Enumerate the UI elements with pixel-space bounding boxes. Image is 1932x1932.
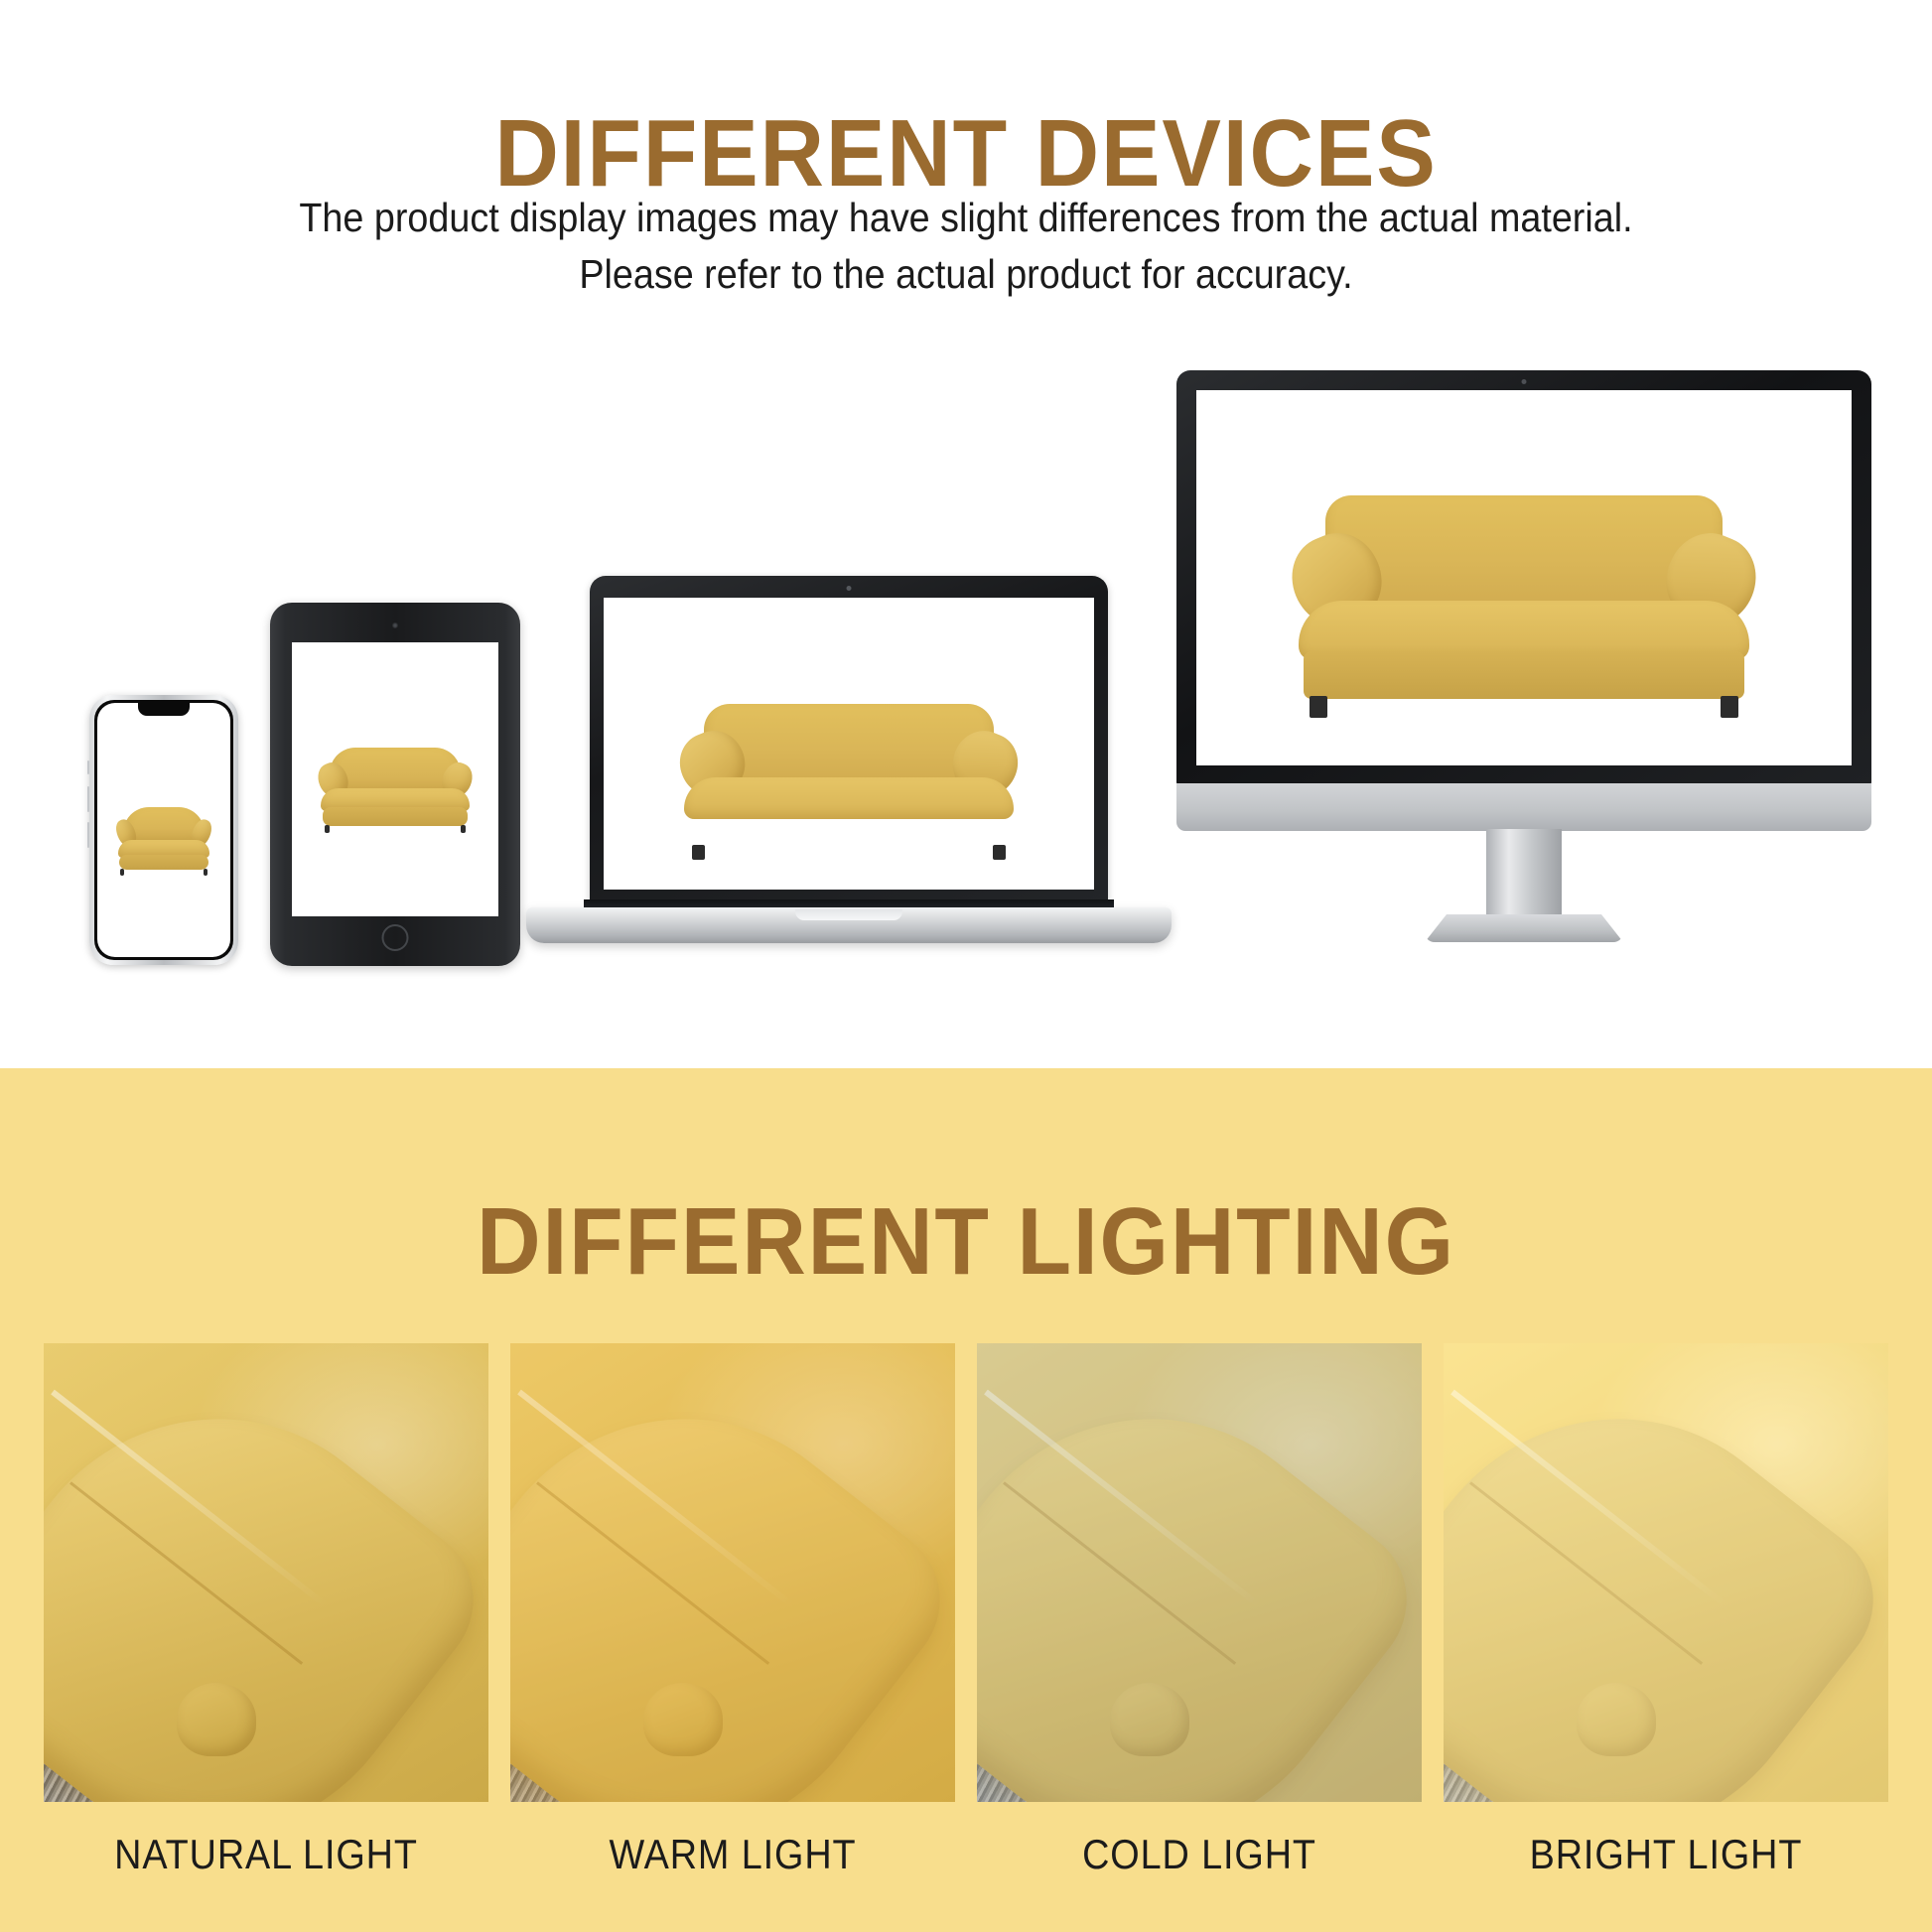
product-infographic-page: DIFFERENT DEVICES The product display im… bbox=[0, 0, 1932, 1932]
swatch-cold-light bbox=[977, 1343, 1422, 1802]
different-lighting-section: DIFFERENT LIGHTING bbox=[0, 1068, 1932, 1932]
phone-volume-down-button bbox=[87, 822, 89, 848]
swatch-label-warm-light: WARM LIGHT bbox=[532, 1831, 932, 1890]
phone-mute-switch bbox=[87, 760, 89, 774]
devices-subtitle-line-1: The product display images may have slig… bbox=[77, 195, 1855, 241]
sofa-right-leg bbox=[993, 845, 1006, 860]
sofa-left-leg bbox=[325, 825, 331, 833]
monitor-chin bbox=[1176, 783, 1871, 831]
phone-product-image bbox=[108, 789, 220, 881]
monitor-webcam-icon bbox=[1522, 379, 1527, 384]
phone-volume-up-button bbox=[87, 786, 89, 812]
laptop-lid-notch bbox=[795, 909, 902, 920]
laptop-product-image bbox=[647, 662, 1049, 873]
monitor-screen bbox=[1196, 390, 1852, 765]
tablet-mockup bbox=[270, 603, 520, 966]
phone-screen bbox=[97, 703, 230, 957]
tablet-home-button bbox=[382, 924, 409, 951]
swatch-warm-light bbox=[510, 1343, 955, 1802]
laptop-screen bbox=[604, 598, 1094, 890]
laptop-mockup bbox=[526, 576, 1172, 973]
sofa-left-leg bbox=[1310, 696, 1327, 717]
sofa-left-leg bbox=[692, 845, 705, 860]
devices-title: DIFFERENT DEVICES bbox=[68, 99, 1864, 208]
monitor-stand-neck bbox=[1486, 829, 1562, 918]
laptop-lid bbox=[590, 576, 1108, 903]
sofa-left-leg bbox=[120, 869, 124, 875]
lighting-label-row: NATURAL LIGHT WARM LIGHT COLD LIGHT BRIG… bbox=[44, 1831, 1888, 1890]
lighting-tint-overlay bbox=[510, 1343, 955, 1802]
phone-screen-bezel bbox=[94, 700, 233, 960]
swatch-natural-light bbox=[44, 1343, 488, 1802]
swatch-label-natural-light: NATURAL LIGHT bbox=[66, 1831, 466, 1890]
sofa-base bbox=[323, 807, 468, 826]
sofa-base bbox=[119, 855, 208, 870]
monitor-bezel bbox=[1176, 370, 1871, 785]
lighting-tint-overlay bbox=[977, 1343, 1422, 1802]
sofa-base bbox=[1304, 651, 1744, 699]
swatch-label-bright-light: BRIGHT LIGHT bbox=[1465, 1831, 1865, 1890]
laptop-webcam-icon bbox=[847, 586, 852, 591]
tablet-front-camera-icon bbox=[392, 622, 398, 628]
swatch-label-cold-light: COLD LIGHT bbox=[999, 1831, 1399, 1890]
sofa-right-leg bbox=[461, 825, 467, 833]
swatch-bright-light bbox=[1444, 1343, 1888, 1802]
different-devices-section: DIFFERENT DEVICES The product display im… bbox=[0, 0, 1932, 1068]
lighting-tint-overlay bbox=[44, 1343, 488, 1802]
monitor-product-image bbox=[1249, 435, 1799, 735]
smartphone-mockup bbox=[89, 695, 238, 965]
devices-subtitle-line-2: Please refer to the actual product for a… bbox=[77, 251, 1855, 298]
lighting-title: DIFFERENT LIGHTING bbox=[68, 1187, 1864, 1297]
sofa-right-leg bbox=[204, 869, 207, 875]
tablet-product-image bbox=[304, 725, 485, 840]
sofa-right-leg bbox=[1721, 696, 1738, 717]
lighting-tint-overlay bbox=[1444, 1343, 1888, 1802]
monitor-stand-foot bbox=[1425, 914, 1623, 942]
tablet-screen bbox=[292, 642, 498, 916]
sofa-seat-cushion bbox=[684, 777, 1014, 819]
desktop-monitor-mockup bbox=[1176, 370, 1871, 966]
phone-notch bbox=[138, 703, 190, 716]
lighting-swatch-row bbox=[44, 1343, 1888, 1802]
